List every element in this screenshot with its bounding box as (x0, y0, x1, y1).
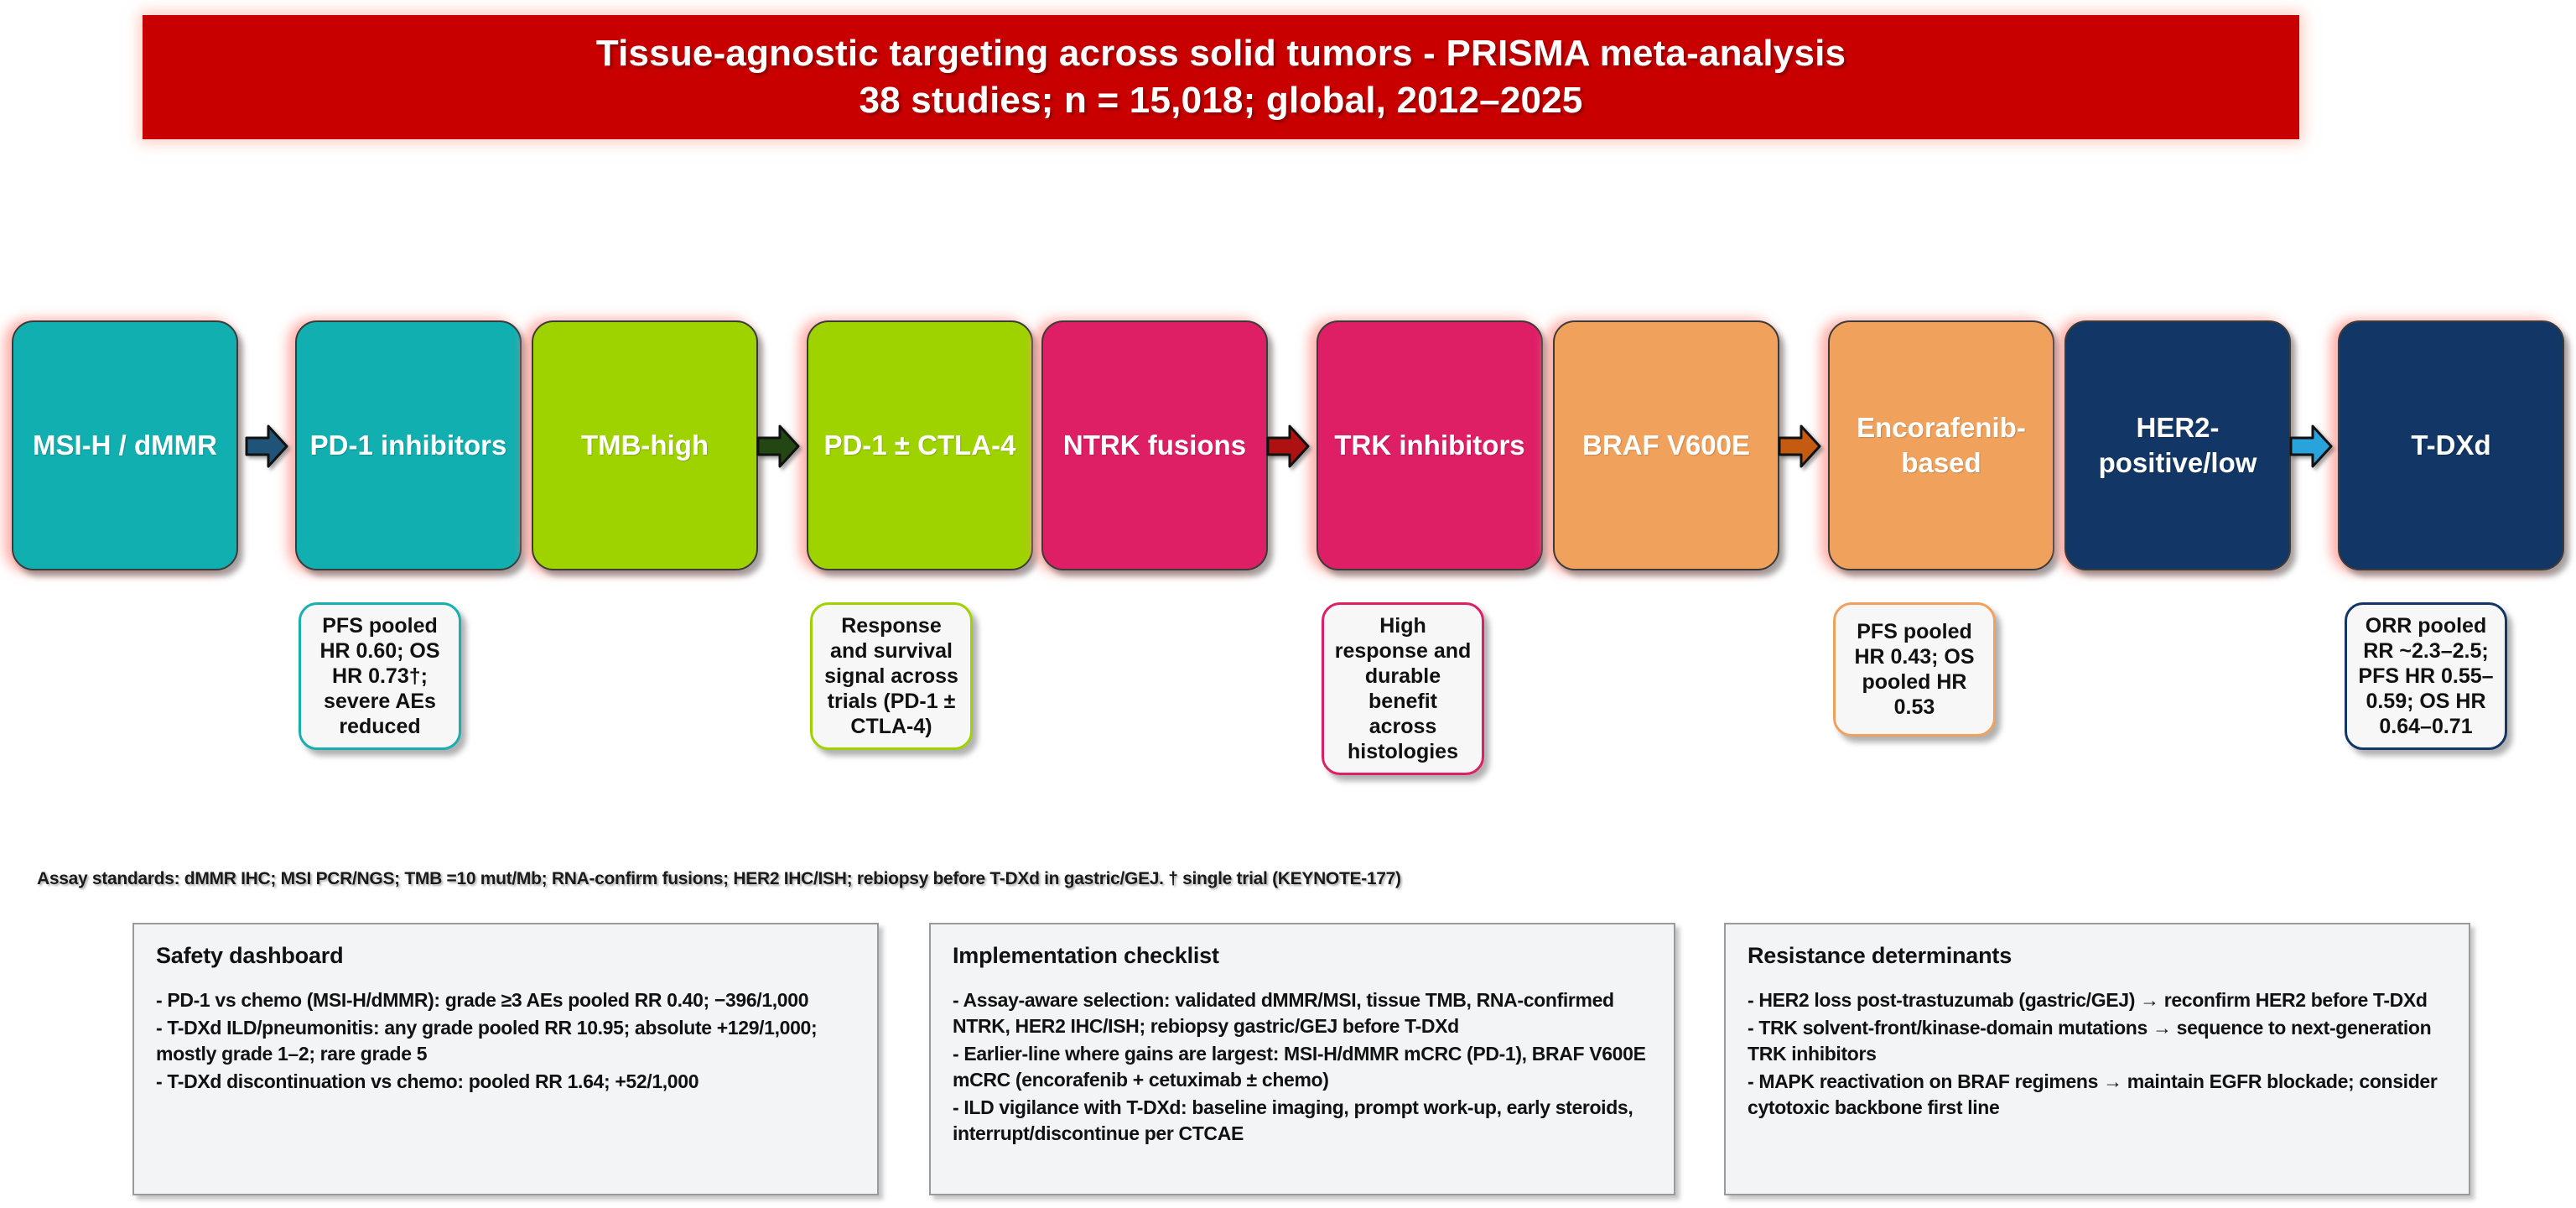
flow-box-label: MSI-H / dMMR (33, 428, 217, 463)
panel-item: - Earlier-line where gains are largest: … (953, 1041, 1652, 1093)
flow-box-label: Encorafenib-based (1838, 410, 2044, 481)
flow-arrow-4-icon (1778, 423, 1821, 470)
flow-arrow-3-icon (1266, 423, 1310, 470)
flow-arrow-1-icon (245, 423, 288, 470)
panel-title: Safety dashboard (156, 943, 855, 969)
flow-box-label: TRK inhibitors (1334, 428, 1524, 463)
panel-item: - HER2 loss post-trastuzumab (gastric/GE… (1748, 987, 2447, 1013)
panel-item: - TRK solvent-front/kinase-domain mutati… (1748, 1015, 2447, 1067)
callout-text: Response and survival signal across tria… (823, 613, 960, 739)
callout-text: High response and durable benefit across… (1334, 613, 1472, 764)
callout-3[interactable]: High response and durable benefit across… (1322, 602, 1484, 775)
title-line-1: Tissue-agnostic targeting across solid t… (596, 30, 1846, 77)
callout-text: ORR pooled RR ~2.3–2.5; PFS HR 0.55–0.59… (2357, 613, 2495, 739)
flow-box-9[interactable]: HER2-positive/low (2064, 320, 2291, 570)
assay-standards-footnote: Assay standards: dMMR IHC; MSI PCR/NGS; … (37, 869, 1966, 889)
callout-5[interactable]: ORR pooled RR ~2.3–2.5; PFS HR 0.55–0.59… (2345, 602, 2507, 750)
flow-box-label: HER2-positive/low (2075, 410, 2281, 481)
callout-1[interactable]: PFS pooled HR 0.60; OS HR 0.73†; severe … (299, 602, 461, 750)
panel-item: - T-DXd ILD/pneumonitis: any grade poole… (156, 1015, 855, 1067)
flow-box-3[interactable]: TMB-high (532, 320, 758, 570)
flow-box-label: PD-1 inhibitors (310, 428, 507, 463)
flow-arrow-5-icon (2289, 423, 2333, 470)
panel-title: Resistance determinants (1748, 943, 2447, 969)
callout-text: PFS pooled HR 0.43; OS pooled HR 0.53 (1846, 619, 1983, 720)
panel-3: Resistance determinants - HER2 loss post… (1724, 923, 2470, 1195)
panel-item: - ILD vigilance with T-DXd: baseline ima… (953, 1095, 1652, 1147)
callout-text: PFS pooled HR 0.60; OS HR 0.73†; severe … (311, 613, 449, 739)
flow-box-10[interactable]: T-DXd (2338, 320, 2564, 570)
flow-box-7[interactable]: BRAF V600E (1553, 320, 1779, 570)
flow-box-8[interactable]: Encorafenib-based (1828, 320, 2054, 570)
panel-1: Safety dashboard - PD-1 vs chemo (MSI-H/… (132, 923, 879, 1195)
callout-4[interactable]: PFS pooled HR 0.43; OS pooled HR 0.53 (1833, 602, 1996, 737)
flow-box-label: NTRK fusions (1063, 428, 1246, 463)
flow-box-2[interactable]: PD-1 inhibitors (295, 320, 522, 570)
infographic-canvas: Tissue-agnostic targeting across solid t… (0, 0, 2576, 1208)
title-banner: Tissue-agnostic targeting across solid t… (143, 15, 2299, 139)
flow-box-6[interactable]: TRK inhibitors (1317, 320, 1543, 570)
flow-box-label: PD-1 ± CTLA-4 (824, 428, 1016, 463)
flow-box-label: BRAF V600E (1582, 428, 1750, 463)
flow-arrow-2-icon (756, 423, 800, 470)
title-line-2: 38 studies; n = 15,018; global, 2012–202… (860, 77, 1583, 124)
flow-box-4[interactable]: PD-1 ± CTLA-4 (807, 320, 1033, 570)
flow-box-label: T-DXd (2411, 428, 2490, 463)
panel-item: - MAPK reactivation on BRAF regimens → m… (1748, 1069, 2447, 1121)
panel-item: - T-DXd discontinuation vs chemo: pooled… (156, 1069, 855, 1095)
flow-box-5[interactable]: NTRK fusions (1041, 320, 1268, 570)
panel-item: - Assay-aware selection: validated dMMR/… (953, 987, 1652, 1039)
panel-2: Implementation checklist- Assay-aware se… (929, 923, 1675, 1195)
flow-box-1[interactable]: MSI-H / dMMR (12, 320, 238, 570)
panel-item: - PD-1 vs chemo (MSI-H/dMMR): grade ≥3 A… (156, 987, 855, 1013)
callout-2[interactable]: Response and survival signal across tria… (810, 602, 973, 750)
flow-box-label: TMB-high (581, 428, 709, 463)
panel-title: Implementation checklist (953, 943, 1652, 969)
